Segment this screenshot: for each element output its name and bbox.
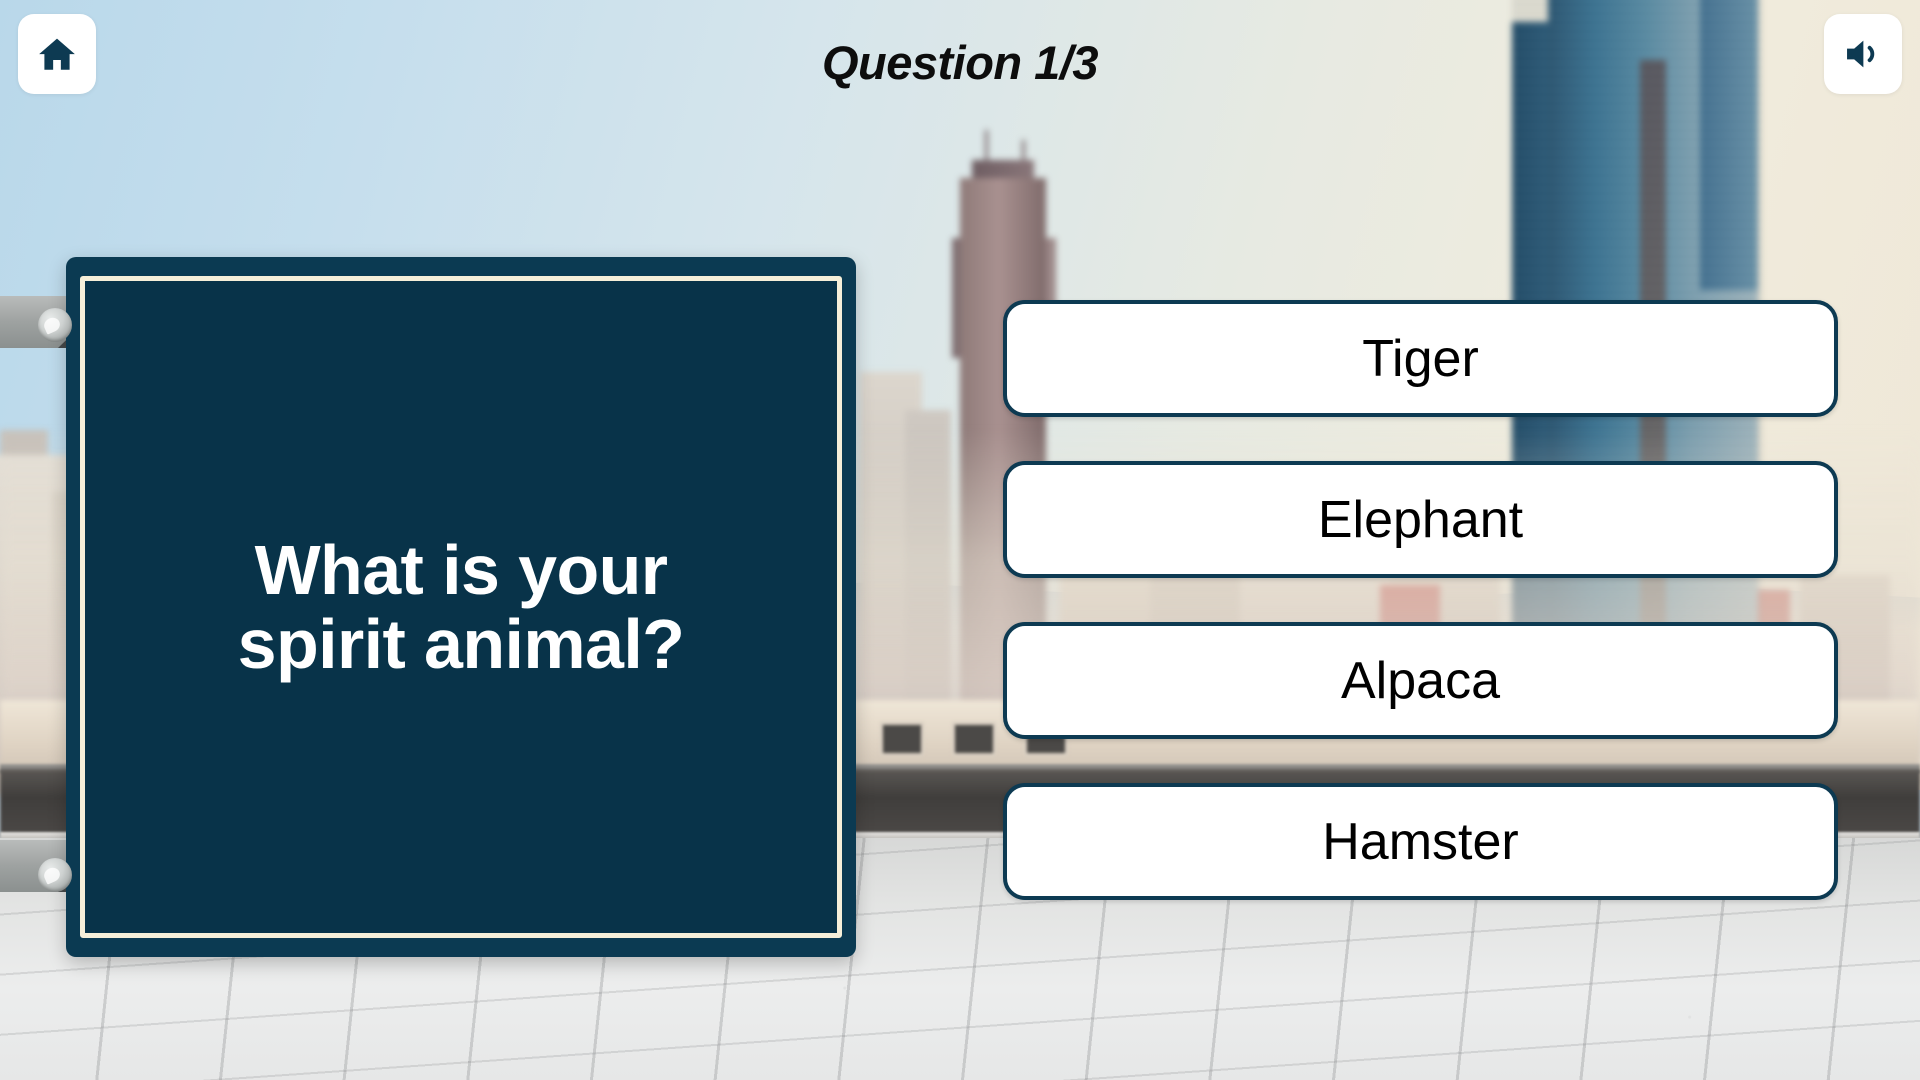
quiz-screen: Question 1/3 What is your spirit animal?…	[0, 0, 1920, 1080]
card-screw-bottom	[38, 858, 72, 892]
roof-vent	[880, 722, 924, 756]
answer-option-4[interactable]: Hamster	[1003, 783, 1838, 900]
answer-option-2[interactable]: Elephant	[1003, 461, 1838, 578]
card-screw-top	[38, 308, 72, 342]
question-text: What is your spirit animal?	[141, 533, 781, 681]
answer-options-list: Tiger Elephant Alpaca Hamster	[1003, 300, 1838, 900]
answer-option-3[interactable]: Alpaca	[1003, 622, 1838, 739]
question-card-inner-frame: What is your spirit animal?	[80, 276, 842, 938]
page-title: Question 1/3	[0, 35, 1920, 90]
question-card: What is your spirit animal?	[66, 257, 856, 957]
roof-vent	[952, 722, 996, 756]
answer-option-1[interactable]: Tiger	[1003, 300, 1838, 417]
